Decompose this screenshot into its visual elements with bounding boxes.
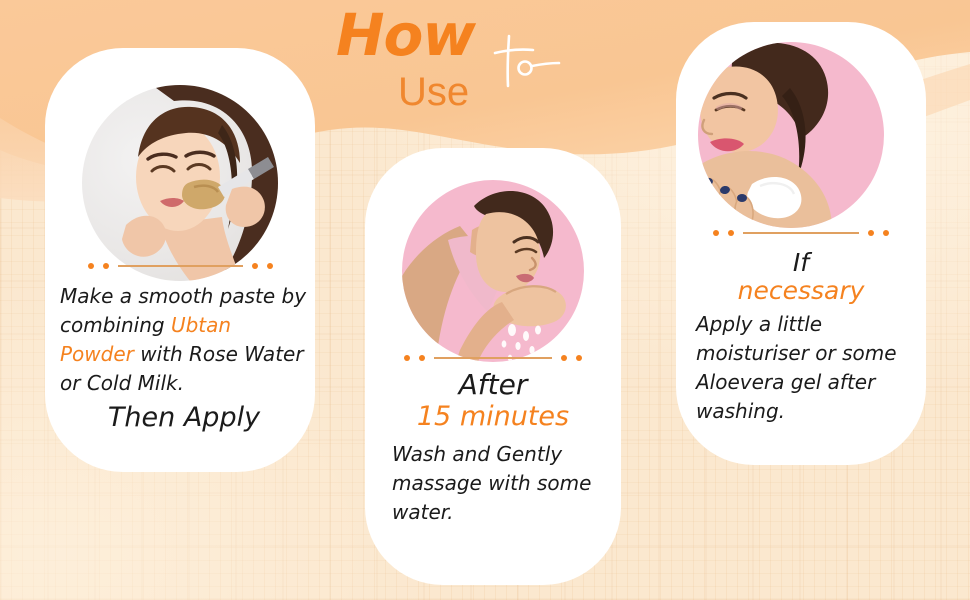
divider-bar <box>118 265 243 267</box>
divider-dot <box>252 263 258 269</box>
divider-dot <box>713 230 719 236</box>
woman-washing-face-illustration <box>402 180 584 362</box>
step-1-emphasis-text: Then Apply <box>60 402 308 434</box>
divider-dot <box>868 230 874 236</box>
divider-dot <box>267 263 273 269</box>
divider-bar <box>434 357 552 359</box>
step-2-body-text: Wash and Gently massage with some water. <box>392 440 608 527</box>
step-3-body-text: Apply a little moisturiser or some Aloev… <box>696 310 910 426</box>
divider-dot <box>88 263 94 269</box>
step-1-photo <box>82 85 278 281</box>
divider-bar <box>743 232 859 234</box>
step-1-body-text: Make a smooth paste by combining Ubtan P… <box>60 282 308 398</box>
divider-dot <box>419 355 425 361</box>
divider-dot <box>103 263 109 269</box>
step-3-divider <box>692 230 910 236</box>
step-3-heading-dark: If <box>690 248 912 277</box>
step-2-photo <box>402 180 584 362</box>
step-3-heading-orange: necessary <box>690 276 912 306</box>
step-1-divider <box>62 263 299 269</box>
step-3-photo <box>698 42 884 228</box>
woman-applying-paste-illustration <box>82 85 278 281</box>
divider-dot <box>883 230 889 236</box>
step-2-heading-dark: After <box>380 368 606 401</box>
step-2-heading-orange: 15 minutes <box>380 401 606 433</box>
divider-dot <box>728 230 734 236</box>
divider-dot <box>561 355 567 361</box>
woman-applying-moisturiser-illustration <box>698 42 884 228</box>
divider-dot <box>576 355 582 361</box>
step-2-divider <box>382 355 604 361</box>
divider-dot <box>404 355 410 361</box>
